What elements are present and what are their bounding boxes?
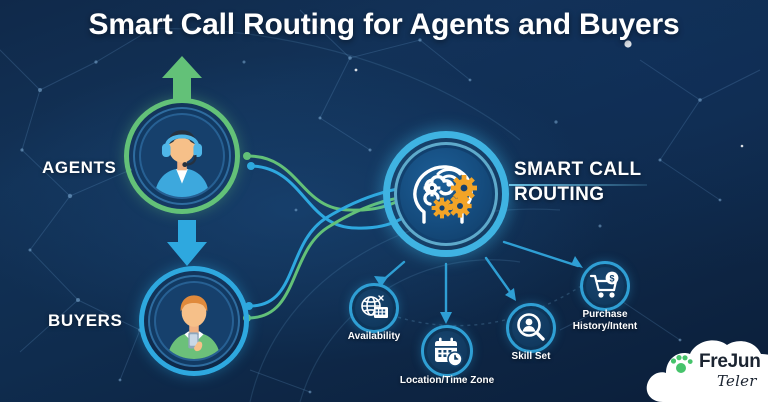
globe-schedule-icon bbox=[352, 286, 396, 330]
availability-circle bbox=[349, 283, 399, 333]
agents-ring-inner bbox=[139, 113, 225, 199]
buyers-avatar-node[interactable] bbox=[139, 266, 249, 376]
availability-label: Availability bbox=[329, 331, 419, 343]
skill-circle bbox=[506, 303, 556, 353]
hub-face bbox=[400, 148, 492, 240]
buyers-label: BUYERS bbox=[48, 311, 122, 331]
buyers-ring-inner bbox=[154, 281, 234, 361]
infographic-canvas: Smart Call Routing for Agents and Buyers bbox=[0, 0, 768, 402]
purchase-circle: $ bbox=[580, 261, 630, 311]
arrow-down-icon bbox=[165, 220, 209, 266]
feature-location-time-zone[interactable]: Location/Time Zone bbox=[421, 325, 473, 377]
calendar-clock-icon bbox=[424, 328, 470, 374]
hub-label-underline bbox=[509, 184, 647, 186]
smart-call-routing-hub[interactable] bbox=[383, 131, 509, 257]
agents-label: AGENTS bbox=[42, 158, 116, 178]
hub-label: SMART CALL ROUTING bbox=[514, 157, 641, 207]
location-label: Location/Time Zone bbox=[382, 375, 512, 387]
page-title: Smart Call Routing for Agents and Buyers bbox=[0, 8, 768, 42]
agents-avatar-node[interactable] bbox=[124, 98, 240, 214]
skill-label: Skill Set bbox=[486, 351, 576, 363]
buyer-phone-avatar bbox=[156, 283, 232, 359]
feature-purchase-history[interactable]: $ Purchase History/Intent bbox=[580, 261, 630, 311]
shopping-cart-dollar-icon: $ bbox=[583, 264, 627, 308]
logo-subword: Teler bbox=[717, 372, 757, 390]
person-magnifier-icon bbox=[509, 306, 553, 350]
brain-head-gears-icon bbox=[400, 148, 492, 240]
purchase-label: Purchase History/Intent bbox=[550, 309, 660, 333]
brand-logo[interactable]: FreJun Teler bbox=[645, 330, 768, 402]
svg-text:$: $ bbox=[609, 273, 614, 283]
logo-wordmark: FreJun bbox=[699, 351, 761, 373]
arrow-up-icon bbox=[158, 54, 206, 100]
agent-headset-avatar bbox=[141, 115, 223, 197]
location-circle bbox=[421, 325, 473, 377]
paw-dots-icon bbox=[669, 354, 695, 374]
feature-skill-set[interactable]: Skill Set bbox=[506, 303, 556, 353]
feature-availability[interactable]: Availability bbox=[349, 283, 399, 333]
